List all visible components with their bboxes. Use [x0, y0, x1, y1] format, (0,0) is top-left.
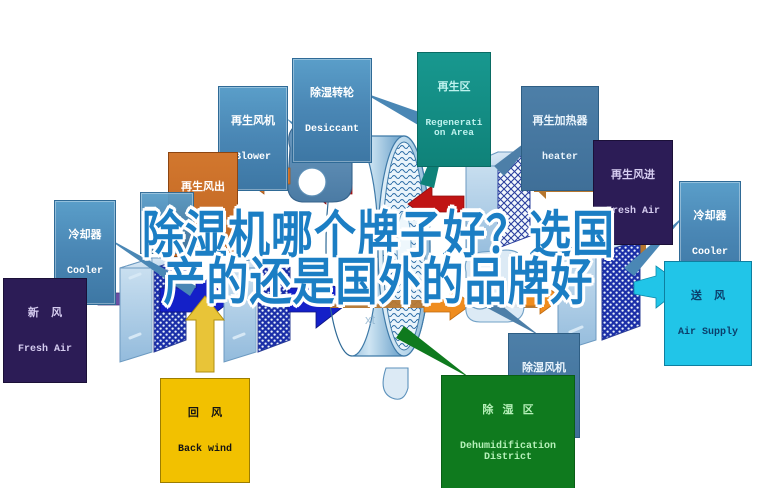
schematic-canvas: xt: [0, 0, 757, 488]
label-fresh-air: 新 风 Fresh Air: [3, 278, 87, 383]
label-cooler-mid: 冷却器: [140, 192, 194, 254]
label-regen-fresh-air-en: Fresh Air: [596, 206, 670, 217]
label-dehum-district-en: Dehumidification District: [445, 441, 571, 463]
label-fresh-air-cn: 新 风: [6, 307, 84, 319]
label-regen-heater: 再生加热器 heater: [521, 86, 599, 191]
label-cooler-right-en: Cooler: [682, 247, 738, 258]
condensate-drain: [383, 368, 408, 399]
cooler-coil-2: [224, 258, 290, 362]
label-regen-heater-en: heater: [524, 152, 596, 163]
label-regen-area-cn: 再生区: [420, 81, 488, 93]
label-regen-area-en: Regenerati on Area: [420, 118, 488, 139]
arrow-dehumidified-air-1: [424, 288, 472, 320]
label-desiccant-rotor-en: Desiccant: [295, 124, 369, 135]
label-cooler-mid-cn: 冷却器: [143, 217, 191, 228]
label-dehum-district: 除 湿 区 Dehumidification District: [441, 375, 575, 488]
label-regen-fresh-air-cn: 再生风进: [596, 169, 670, 181]
label-cooler-left-en: Cooler: [57, 266, 113, 277]
label-back-wind-cn: 回 风: [163, 407, 247, 419]
label-back-wind-en: Back wind: [163, 444, 247, 455]
label-air-supply-en: Air Supply: [667, 327, 749, 338]
label-regen-area: 再生区 Regenerati on Area: [417, 52, 491, 167]
label-dehum-district-cn: 除 湿 区: [445, 404, 571, 416]
svg-text:xt: xt: [365, 312, 376, 327]
label-cooler-left-cn: 冷却器: [57, 229, 113, 241]
label-back-wind: 回 风 Back wind: [160, 378, 250, 483]
label-desiccant-rotor: 除湿转轮 Desiccant: [292, 58, 372, 163]
label-fresh-air-en: Fresh Air: [6, 344, 84, 355]
label-dehum-blower-cn: 除湿风机: [511, 362, 577, 374]
label-air-supply: 送 风 Air Supply: [664, 261, 752, 366]
label-regen-blower-cn: 再生风机: [221, 115, 285, 127]
label-air-supply-cn: 送 风: [667, 290, 749, 302]
label-cooler-right-cn: 冷却器: [682, 210, 738, 222]
label-regen-fresh-air: 再生风进 Fresh Air: [593, 140, 673, 245]
label-regen-heater-cn: 再生加热器: [524, 115, 596, 127]
label-desiccant-rotor-cn: 除湿转轮: [295, 87, 369, 99]
